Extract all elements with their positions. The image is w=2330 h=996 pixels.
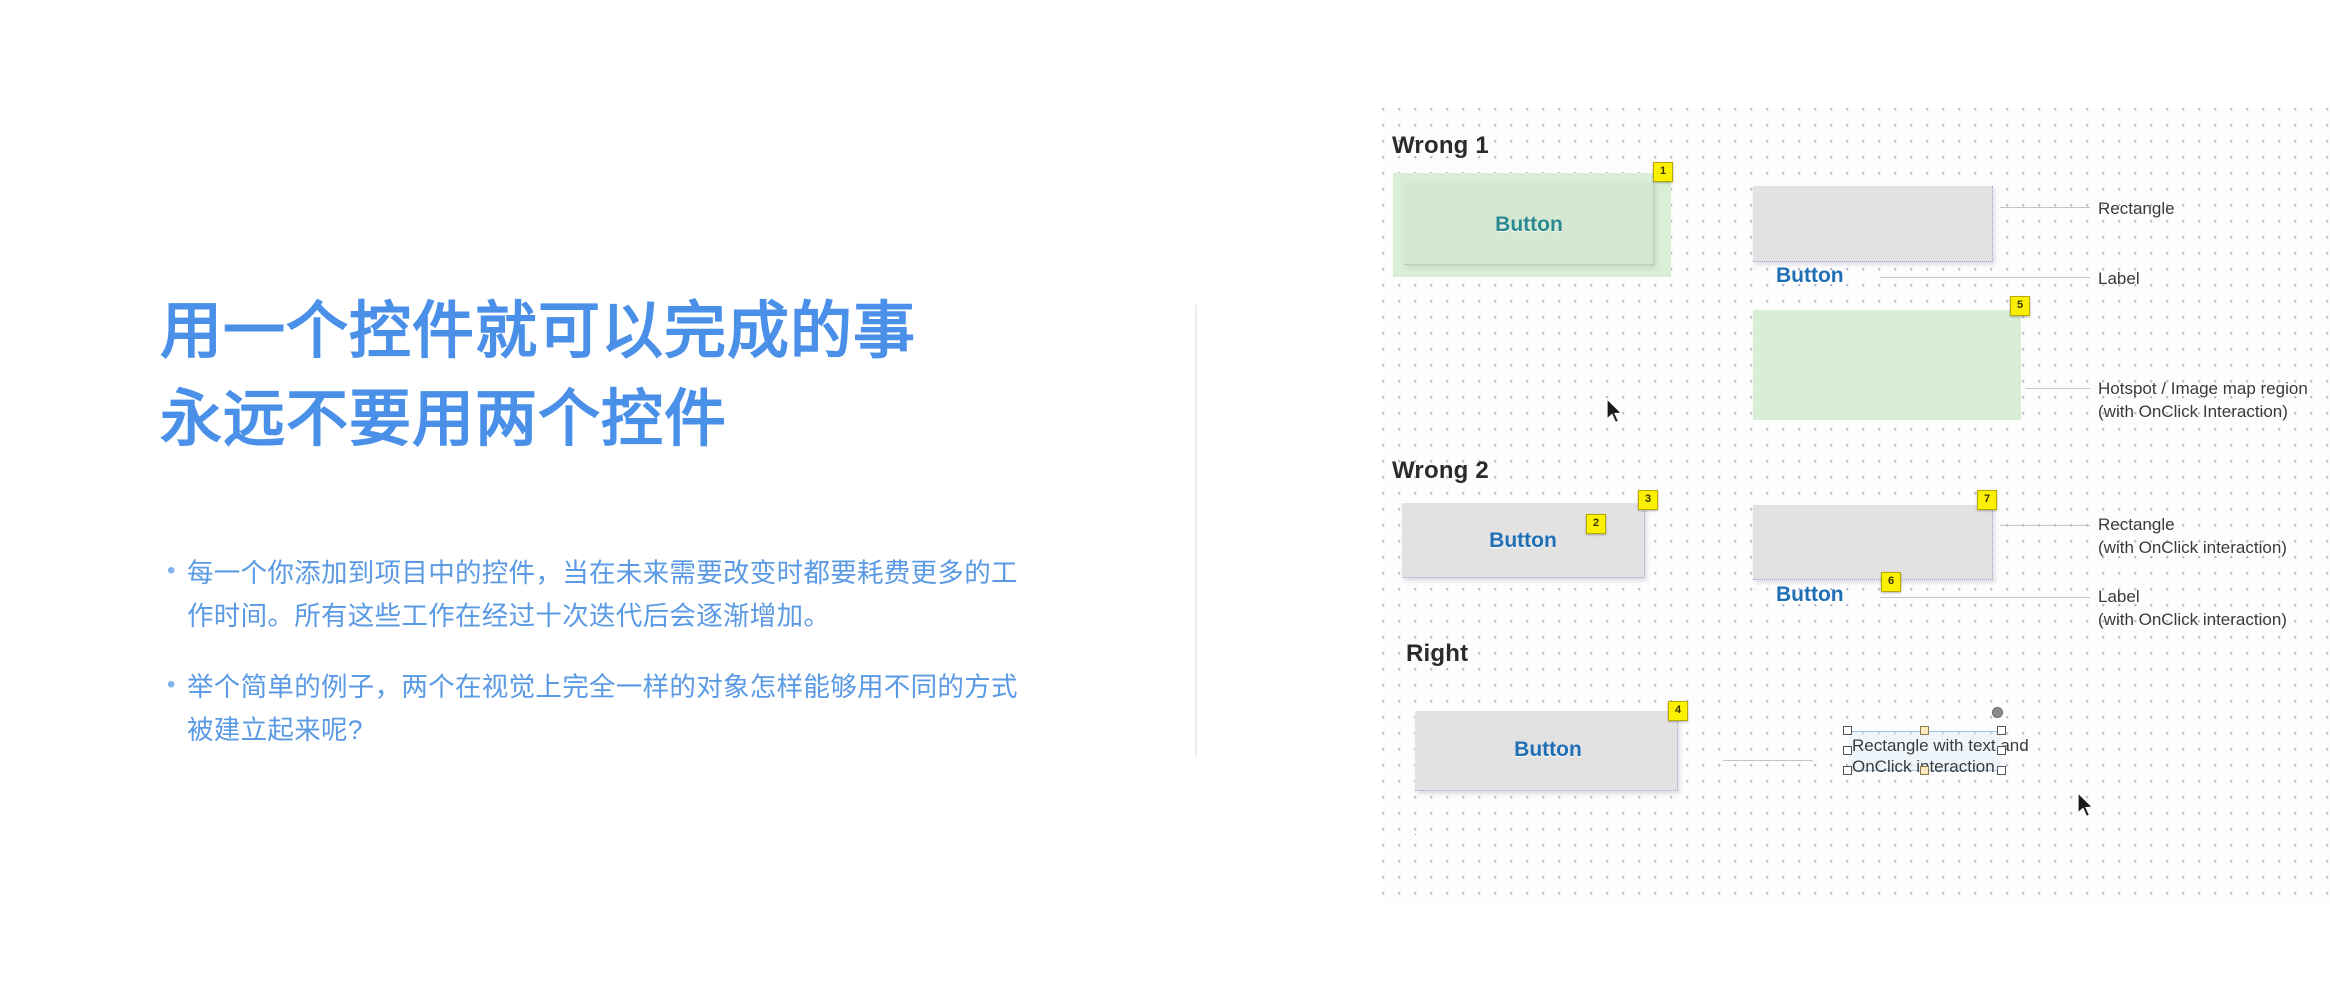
leader-line-label-wrong2	[1880, 597, 2090, 598]
title-line-2: 永远不要用两个控件	[160, 376, 1060, 464]
callout-rectangle-wrong2: Rectangle (with OnClick interaction)	[2098, 514, 2287, 560]
resize-handle-bottom-center[interactable]	[1920, 766, 1929, 775]
bullet-text-2: 举个简单的例子，两个在视觉上完全一样的对象怎样能够用不同的方式被建立起来呢?	[187, 666, 1035, 752]
rotate-handle[interactable]	[1992, 707, 2003, 718]
callout-rectangle-wrong1: Rectangle	[2098, 198, 2175, 221]
marker-5[interactable]: 5	[2010, 296, 2030, 316]
label-text-wrong2: Button	[1776, 583, 1844, 607]
button-label-right: Button	[1514, 738, 1582, 762]
section-title-right: Right	[1406, 640, 1468, 668]
callout-label-wrong2: Label (with OnClick interaction)	[2098, 586, 2287, 632]
section-title-wrong-2: Wrong 2	[1392, 457, 1489, 485]
leader-line-right	[1723, 760, 1813, 761]
marker-3[interactable]: 3	[1638, 490, 1658, 510]
rectangle-shape-wrong2	[1753, 505, 1993, 580]
resize-handle-top-left[interactable]	[1843, 726, 1852, 735]
spacer-shape	[1415, 834, 1416, 835]
callout-rect-onclick-line-1: Rectangle	[2098, 515, 2175, 534]
mouse-cursor-secondary	[2076, 792, 2096, 824]
callout-hotspot-line-2: (with OnClick Interaction)	[2098, 402, 2288, 421]
section-title-wrong-1: Wrong 1	[1392, 132, 1489, 160]
bullet-point-icon: •	[165, 552, 187, 591]
marker-4[interactable]: 4	[1668, 701, 1688, 721]
leader-line-rectangle-wrong2	[2000, 525, 2090, 526]
resize-handle-top-right[interactable]	[1997, 726, 2006, 735]
callout-rect-onclick-line-2: (with OnClick interaction)	[2098, 538, 2287, 557]
rectangle-shape-wrong1	[1753, 186, 1993, 262]
leader-line-label-wrong1	[1880, 277, 2090, 278]
marker-2[interactable]: 2	[1586, 514, 1606, 534]
resize-handle-bottom-left[interactable]	[1843, 766, 1852, 775]
slide-left-column: 用一个控件就可以完成的事 永远不要用两个控件 • 每一个你添加到项目中的控件，当…	[0, 0, 1196, 996]
marker-1[interactable]: 1	[1653, 162, 1673, 182]
callout-hotspot-line-1: Hotspot / Image map region	[2098, 379, 2308, 398]
marker-7[interactable]: 7	[1977, 490, 1997, 510]
bullet-point-icon: •	[165, 666, 187, 705]
resize-handle-bottom-right[interactable]	[1997, 766, 2006, 775]
callout-label-onclick-line-2: (with OnClick interaction)	[2098, 610, 2287, 629]
column-divider	[1195, 305, 1197, 757]
label-text-wrong1: Button	[1776, 264, 1844, 288]
button-label-wrong2-left: Button	[1489, 529, 1557, 553]
leader-line-hotspot	[2026, 388, 2090, 389]
mouse-cursor-primary	[1605, 398, 1625, 430]
list-item: • 每一个你添加到项目中的控件，当在未来需要改变时都要耗费更多的工作时间。所有这…	[165, 552, 1035, 638]
callout-label-wrong1: Label	[2098, 268, 2140, 291]
page-title: 用一个控件就可以完成的事 永远不要用两个控件	[160, 288, 1060, 464]
marker-6[interactable]: 6	[1881, 572, 1901, 592]
resize-handle-middle-right[interactable]	[1997, 746, 2006, 755]
leader-line-rectangle-wrong1	[2000, 207, 2090, 208]
title-line-1: 用一个控件就可以完成的事	[160, 288, 1060, 376]
presentation-slide: 用一个控件就可以完成的事 永远不要用两个控件 • 每一个你添加到项目中的控件，当…	[0, 0, 2330, 996]
button-label-wrong1-left: Button	[1495, 213, 1563, 237]
selected-shape-text: Rectangle with text and OnClick interact…	[1852, 735, 2042, 777]
resize-handle-top-center[interactable]	[1920, 726, 1929, 735]
callout-label-onclick-line-1: Label	[2098, 587, 2140, 606]
hotspot-region-wrong1-right	[1753, 310, 2021, 420]
bullet-list: • 每一个你添加到项目中的控件，当在未来需要改变时都要耗费更多的工作时间。所有这…	[165, 552, 1035, 780]
bullet-text-1: 每一个你添加到项目中的控件，当在未来需要改变时都要耗费更多的工作时间。所有这些工…	[187, 552, 1035, 638]
list-item: • 举个简单的例子，两个在视觉上完全一样的对象怎样能够用不同的方式被建立起来呢?	[165, 666, 1035, 752]
callout-hotspot: Hotspot / Image map region (with OnClick…	[2098, 378, 2308, 424]
resize-handle-middle-left[interactable]	[1843, 746, 1852, 755]
